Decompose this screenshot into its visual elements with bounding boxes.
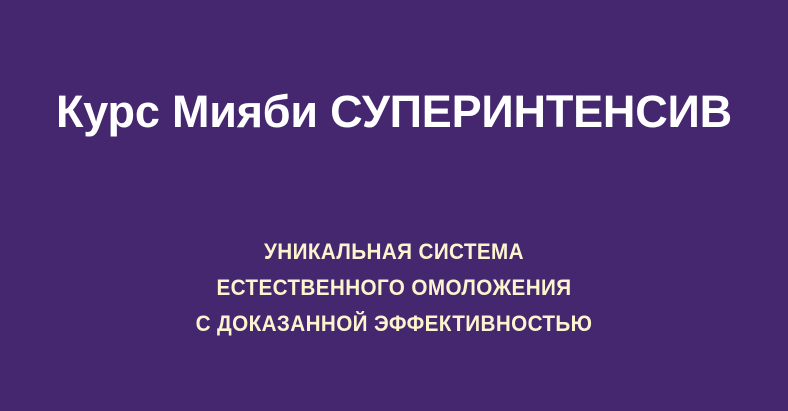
subtitle-line-3: С ДОКАЗАННОЙ ЭФФЕКТИВНОСТЬЮ [24,306,765,342]
slide-title-block: Курс Мияби СУПЕРИНТЕНСИВ [0,86,788,138]
subtitle-line-1: УНИКАЛЬНАЯ СИСТЕМА [24,234,765,270]
subtitle-line-2: ЕСТЕСТВЕННОГО ОМОЛОЖЕНИЯ [24,270,765,306]
presentation-slide: Курс Мияби СУПЕРИНТЕНСИВ УНИКАЛЬНАЯ СИСТ… [0,0,788,411]
slide-subtitle-block: УНИКАЛЬНАЯ СИСТЕМА ЕСТЕСТВЕННОГО ОМОЛОЖЕ… [0,234,788,342]
page-title: Курс Мияби СУПЕРИНТЕНСИВ [0,86,788,138]
